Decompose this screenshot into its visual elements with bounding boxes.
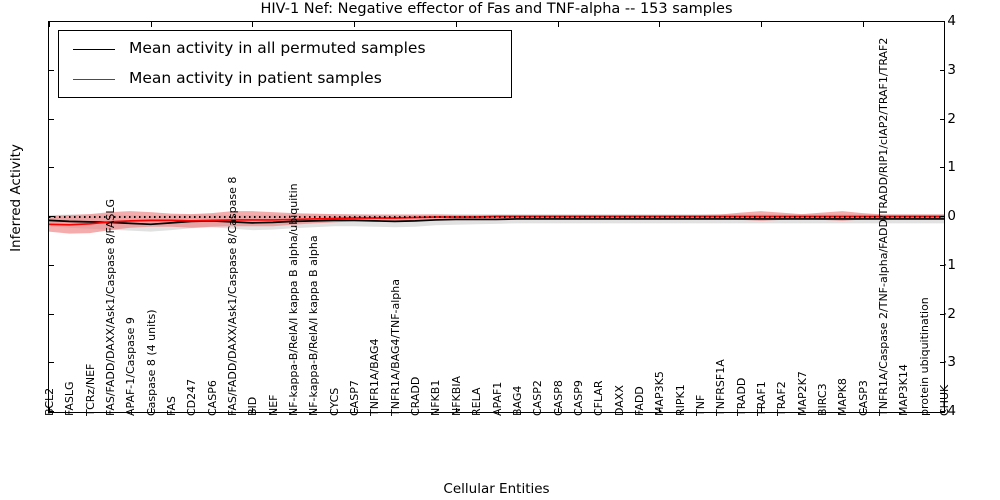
x-tick-mark: [761, 22, 762, 27]
y-tick-mark: [940, 314, 945, 315]
x-category-label: TRADD: [736, 378, 747, 416]
x-category-label: BAG4: [512, 386, 523, 416]
x-tick-mark: [151, 22, 152, 27]
x-category-label: CASP9: [573, 380, 584, 416]
x-category-label: TNFR1A/BAG4/TNF-alpha: [390, 279, 401, 416]
legend-entry-permuted: Mean activity in all permuted samples: [59, 35, 511, 65]
x-category-label: CASP6: [207, 380, 218, 416]
x-category-label: TCRz/NEF: [85, 364, 96, 416]
legend-entry-patient: Mean activity in patient samples: [59, 65, 511, 95]
y-tick-mark: [49, 216, 54, 217]
legend-label-patient: Mean activity in patient samples: [129, 69, 382, 87]
x-tick-mark: [456, 22, 457, 27]
y-tick-mark: [940, 21, 945, 22]
x-category-label: APAF-1/Caspase 9: [125, 317, 136, 416]
y-tick-mark: [49, 70, 54, 71]
legend-label-permuted: Mean activity in all permuted samples: [129, 39, 426, 57]
x-category-label: CASP8: [553, 380, 564, 416]
x-category-label: TRAF1: [756, 381, 767, 416]
y-tick-mark: [49, 314, 54, 315]
x-category-label: CFLAR: [593, 380, 604, 416]
y-tick-mark: [49, 119, 54, 120]
y-tick-mark: [940, 70, 945, 71]
x-category-label: CASP7: [349, 380, 360, 416]
y-axis-label: Inferred Activity: [8, 98, 24, 298]
x-category-label: NF-kappa-B/RelA/I kappa B alpha: [308, 235, 319, 416]
legend-line-swatch-permuted: [73, 49, 115, 50]
x-category-label: NFKB1: [430, 380, 441, 416]
x-category-label: FAS: [166, 396, 177, 416]
x-category-label: TRAF2: [776, 381, 787, 416]
x-category-label: APAF1: [492, 382, 503, 416]
y-tick-mark: [940, 119, 945, 120]
y-tick-mark: [49, 167, 54, 168]
x-category-label: BCL2: [44, 388, 55, 416]
legend-line-swatch-patient: [73, 79, 115, 80]
x-tick-mark: [659, 22, 660, 27]
x-category-label: DAXX: [614, 385, 625, 416]
x-category-label: MAP2K7: [797, 371, 808, 416]
x-category-label: RIPK1: [675, 384, 686, 416]
x-category-label: BID: [247, 397, 258, 416]
x-category-label: NF-kappa-B/RelA/I kappa B alpha/ubiquiti…: [288, 183, 299, 416]
x-category-label: FAS/FADD/DAXX/Ask1/Caspase 8/FASLG: [105, 199, 116, 416]
x-category-label: MAPK8: [837, 378, 848, 416]
x-category-label: MAP3K5: [654, 371, 665, 416]
x-tick-mark: [252, 22, 253, 27]
x-category-label: FASLG: [64, 382, 75, 416]
y-tick-mark: [940, 167, 945, 168]
y-tick-mark: [49, 362, 54, 363]
x-tick-mark: [558, 22, 559, 27]
x-category-label: CD247: [186, 379, 197, 416]
x-tick-mark: [49, 22, 50, 27]
y-tick-mark: [940, 265, 945, 266]
x-category-label: NFKBIA: [451, 376, 462, 416]
x-category-label: NEF: [268, 394, 279, 416]
x-category-label: CHUK: [939, 385, 950, 416]
x-category-label: FAS/FADD/DAXX/Ask1/Caspase 8/Caspase 8: [227, 177, 238, 416]
x-tick-mark: [863, 22, 864, 27]
y-tick-mark: [49, 265, 54, 266]
chart-title: HIV-1 Nef: Negative effector of Fas and …: [48, 1, 945, 17]
legend: Mean activity in all permuted samples Me…: [58, 30, 512, 98]
x-category-label: CYCS: [329, 388, 340, 416]
x-category-label: FADD: [634, 386, 645, 416]
x-category-label: CRADD: [410, 377, 421, 416]
x-category-label: TNFR1A/Caspase 2/TNF-alpha/FADD/TRADD/RI…: [878, 38, 889, 416]
x-category-label: protein ubiquitination: [919, 297, 930, 416]
x-tick-mark: [354, 22, 355, 27]
x-category-label: TNFR1A/BAG4: [369, 338, 380, 416]
x-category-label: CASP2: [532, 380, 543, 416]
x-category-label: TNF: [695, 395, 706, 416]
x-category-label: MAP3K14: [898, 364, 909, 416]
x-category-label: RELA: [471, 388, 482, 417]
y-tick-mark: [940, 362, 945, 363]
x-category-label: BIRC3: [817, 383, 828, 416]
x-category-label: TNFRSF1A: [715, 359, 726, 416]
x-category-label: Caspase 8 (4 units): [146, 310, 157, 417]
figure: HIV-1 Nef: Negative effector of Fas and …: [0, 0, 1000, 500]
x-axis-label: Cellular Entities: [48, 481, 945, 497]
x-category-label: CASP3: [858, 380, 869, 416]
y-tick-mark: [940, 216, 945, 217]
